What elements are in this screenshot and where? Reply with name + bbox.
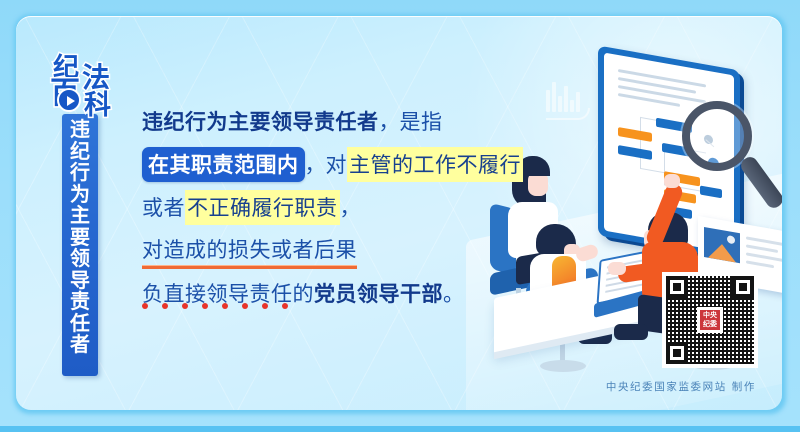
emphasis-dot: [222, 303, 228, 309]
qr-center-logo: 中央纪委: [697, 307, 723, 333]
emphasis-dot: [142, 303, 148, 309]
qr-eye-bottom-left: [666, 342, 688, 364]
text-segment-punct: ，: [379, 106, 400, 136]
text-segment-punct: 。: [443, 278, 464, 308]
text-segment-bold: 违纪行为主要领导责任者: [142, 106, 379, 136]
chart-watermark-icon: [544, 80, 596, 122]
emphasis-dot: [282, 303, 288, 309]
text-line: 违纪行为主要领导责任者，是指: [142, 104, 512, 138]
text-segment-underline: 对造成的损失或者后果: [142, 234, 357, 267]
text-segment-highlight: 主管的工作不履行: [347, 147, 523, 182]
vertical-banner-char: 导: [70, 270, 90, 292]
emphasis-dot: [162, 303, 168, 309]
text-segment-normal: 对: [326, 149, 348, 179]
logo-char-2: 法: [82, 64, 110, 92]
text-segment-bold: 党员领导干部: [314, 278, 443, 308]
text-line: 对造成的损失或者后果: [142, 233, 512, 267]
bottom-strip: [0, 426, 800, 432]
office-chair-mid-base: [540, 360, 586, 372]
emphasis-dots: [142, 303, 288, 309]
emphasis-dot: [202, 303, 208, 309]
body-text-block: 违纪行为主要领导责任者，是指在其职责范围内，对主管的工作不履行或者不正确履行职责…: [142, 104, 512, 319]
text-segment-punct: ，: [305, 149, 326, 179]
emphasis-dot: [262, 303, 268, 309]
vertical-banner-char: 任: [70, 313, 90, 335]
play-icon: [57, 88, 81, 112]
poster-frame: 纪 法 百 科 违纪行为主要领导责任者 违纪行为主要领导责任者，是指在其职责范围…: [16, 16, 782, 410]
vertical-banner-char: 主: [70, 205, 90, 227]
text-segment-boxed: 在其职责范围内: [142, 147, 305, 182]
qr-matrix: 中央纪委: [666, 276, 754, 364]
vertical-banner-char: 责: [70, 291, 90, 313]
poster-root: 纪 法 百 科 违纪行为主要领导责任者 违纪行为主要领导责任者，是指在其职责范围…: [0, 0, 800, 432]
qr-code[interactable]: 中央纪委: [662, 272, 758, 368]
vertical-banner-char: 者: [70, 334, 90, 356]
text-segment-normal: 是指: [400, 106, 443, 136]
vertical-banner-char: 要: [70, 227, 90, 249]
vertical-banner-char: 领: [70, 248, 90, 270]
play-triangle: [67, 96, 75, 106]
emphasis-dot: [242, 303, 248, 309]
image-placeholder: [704, 227, 740, 263]
sun-icon: [727, 235, 735, 244]
text-line: 或者不正确履行职责，: [142, 190, 512, 224]
text-segment-highlight: 不正确履行职责: [185, 190, 340, 225]
text-line: 负直接领导责任的党员领导干部。: [142, 276, 512, 310]
vertical-banner-char: 行: [70, 162, 90, 184]
credit-text: 中央纪委国家监委网站 制作: [606, 379, 756, 394]
qr-eye-top-right: [732, 276, 754, 298]
qr-center-logo-mark: 中央纪委: [700, 310, 720, 330]
vertical-banner-char: 为: [70, 184, 90, 206]
vertical-banner-char: 纪: [70, 141, 90, 163]
brand-logo: 纪 法 百 科: [50, 52, 130, 122]
vertical-title-banner: 违纪行为主要领导责任者: [62, 114, 98, 376]
logo-char-4: 科: [84, 92, 111, 119]
emphasis-dot: [182, 303, 188, 309]
qr-eye-top-left: [666, 276, 688, 298]
text-line: 在其职责范围内，对主管的工作不履行: [142, 147, 512, 181]
vertical-banner-char: 违: [70, 119, 90, 141]
text-segment-punct: ，: [340, 192, 361, 222]
text-segment-normal: 或者: [142, 192, 185, 222]
